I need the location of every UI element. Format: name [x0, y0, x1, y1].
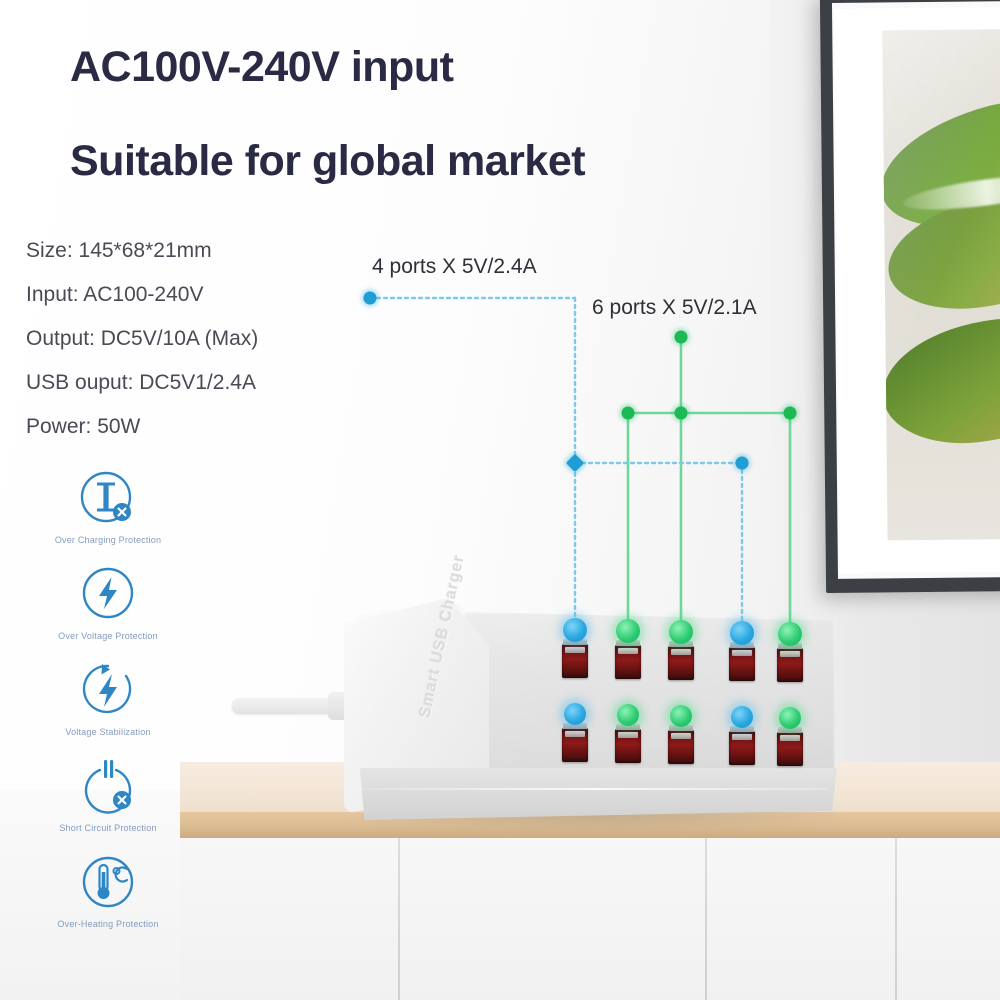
voltage-stabilization-icon — [77, 660, 139, 722]
port-indicator-dot — [730, 621, 754, 645]
feature-over-heating: Over-Heating Protection — [28, 852, 188, 929]
feature-label: Voltage Stabilization — [28, 727, 188, 737]
callout-node-green-junction — [622, 407, 635, 420]
usb-port — [615, 645, 641, 679]
headline-primary: AC100V-240V input — [70, 44, 810, 90]
feature-voltage-stabilization: Voltage Stabilization — [28, 660, 188, 737]
callout-node-blue-branch — [736, 457, 749, 470]
art-glare — [882, 29, 1000, 540]
spec-item-input: Input: AC100-240V — [26, 284, 356, 305]
product-seam — [358, 788, 828, 790]
framed-artwork — [820, 0, 1000, 593]
usb-port — [729, 647, 755, 681]
port-indicator-dot — [564, 703, 586, 725]
protection-feature-list: Over Charging Protection Over Voltage Pr… — [28, 468, 188, 948]
port-indicator-dot — [669, 620, 693, 644]
over-heating-icon — [77, 852, 139, 914]
callout-node-green-junction — [675, 407, 688, 420]
spec-item-usb-output: USB ouput: DC5V1/2.4A — [26, 372, 356, 393]
callout-node-green-origin — [675, 331, 688, 344]
infographic-stage: AC100V-240V input Suitable for global ma… — [0, 0, 1000, 1000]
feature-label: Over-Heating Protection — [28, 919, 188, 929]
cabinet-seam — [398, 838, 400, 1000]
headline-secondary: Suitable for global market — [70, 138, 810, 184]
callout-node-blue-origin — [364, 292, 377, 305]
usb-port — [668, 646, 694, 680]
usb-port — [562, 728, 588, 762]
over-charging-icon — [77, 468, 139, 530]
cabinet-seam — [705, 838, 707, 1000]
spec-item-output: Output: DC5V/10A (Max) — [26, 328, 356, 349]
usb-port — [615, 729, 641, 763]
callout-label-4-ports: 4 ports X 5V/2.4A — [372, 255, 537, 279]
feature-over-voltage: Over Voltage Protection — [28, 564, 188, 641]
port-indicator-dot — [616, 619, 640, 643]
callout-node-green-junction — [784, 407, 797, 420]
headline-block: AC100V-240V input Suitable for global ma… — [70, 44, 810, 185]
feature-label: Over Charging Protection — [28, 535, 188, 545]
spec-list: Size: 145*68*21mm Input: AC100-240V Outp… — [26, 240, 356, 460]
spec-item-power: Power: 50W — [26, 416, 356, 437]
port-indicator-dot — [617, 704, 639, 726]
port-indicator-dot — [670, 705, 692, 727]
usb-port — [777, 648, 803, 682]
cabinets — [180, 838, 1000, 1000]
port-indicator-dot — [563, 618, 587, 642]
feature-over-charging: Over Charging Protection — [28, 468, 188, 545]
feature-short-circuit: Short Circuit Protection — [28, 756, 188, 833]
feature-label: Over Voltage Protection — [28, 631, 188, 641]
port-indicator-dot — [731, 706, 753, 728]
usb-port — [668, 730, 694, 764]
spec-item-size: Size: 145*68*21mm — [26, 240, 356, 261]
usb-port — [562, 644, 588, 678]
usb-charger-product: Smart USB Charger — [250, 592, 850, 852]
usb-port — [777, 732, 803, 766]
botanical-print — [882, 29, 1000, 540]
short-circuit-icon — [77, 756, 139, 818]
port-indicator-dot — [778, 622, 802, 646]
port-indicator-dot — [779, 707, 801, 729]
feature-label: Short Circuit Protection — [28, 823, 188, 833]
over-voltage-icon — [77, 564, 139, 626]
cabinet-seam — [895, 838, 897, 1000]
usb-port — [729, 731, 755, 765]
callout-label-6-ports: 6 ports X 5V/2.1A — [592, 296, 757, 320]
